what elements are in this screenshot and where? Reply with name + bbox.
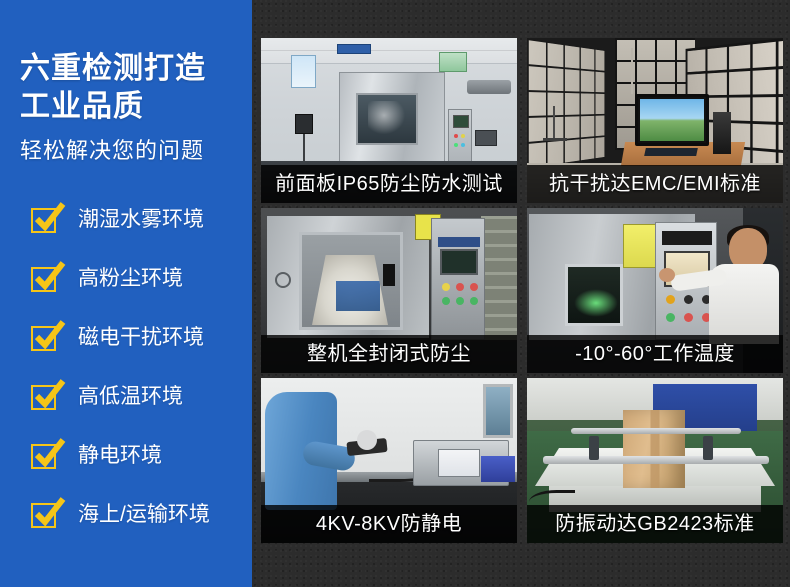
page-title-line-1: 六重检测打造: [20, 50, 206, 88]
photo-tile-ip65: 前面板IP65防尘防水测试: [261, 38, 517, 203]
checkbox-check-icon: [31, 208, 58, 235]
test-photo-grid: 前面板IP65防尘防水测试 抗干扰达EMC/EMI标准: [261, 38, 783, 543]
page-subtitle: 轻松解决您的问题: [20, 133, 204, 165]
photo-caption: 防振动达GB2423标准: [527, 505, 783, 543]
feature-item-5: 海上/运输环境: [0, 501, 252, 560]
checkbox-check-icon: [31, 326, 58, 353]
feature-label: 磁电干扰环境: [78, 324, 204, 351]
feature-item-4: 静电环境: [0, 442, 252, 501]
checkbox-check-icon: [31, 503, 58, 530]
feature-item-2: 磁电干扰环境: [0, 324, 252, 383]
feature-label: 潮湿水雾环境: [78, 206, 204, 233]
feature-item-1: 高粉尘环境: [0, 265, 252, 324]
page-title: 六重检测打造 工业品质: [20, 50, 206, 126]
checkbox-check-icon: [31, 385, 58, 412]
feature-label: 高粉尘环境: [78, 265, 183, 292]
photo-caption: 整机全封闭式防尘: [261, 335, 517, 373]
photo-tile-emc: 抗干扰达EMC/EMI标准: [527, 38, 783, 203]
photo-caption: -10°-60°工作温度: [527, 335, 783, 373]
feature-list: 潮湿水雾环境 高粉尘环境 磁电干扰环境: [0, 206, 252, 560]
checkbox-check-icon: [31, 444, 58, 471]
left-feature-panel: 六重检测打造 工业品质 轻松解决您的问题 潮湿水雾环境 高粉尘环境: [0, 0, 252, 587]
feature-label: 高低温环境: [78, 383, 183, 410]
feature-item-3: 高低温环境: [0, 383, 252, 442]
feature-label: 海上/运输环境: [78, 501, 210, 528]
photo-tile-dust: 整机全封闭式防尘: [261, 208, 517, 373]
photo-tile-temperature: -10°-60°工作温度: [527, 208, 783, 373]
feature-label: 静电环境: [78, 442, 162, 469]
page-title-line-2: 工业品质: [20, 88, 206, 126]
photo-caption: 抗干扰达EMC/EMI标准: [527, 165, 783, 203]
checkbox-check-icon: [31, 267, 58, 294]
photo-tile-esd: 4KV-8KV防静电: [261, 378, 517, 543]
photo-caption: 前面板IP65防尘防水测试: [261, 165, 517, 203]
page-background: 六重检测打造 工业品质 轻松解决您的问题 潮湿水雾环境 高粉尘环境: [0, 0, 790, 587]
photo-caption: 4KV-8KV防静电: [261, 505, 517, 543]
photo-tile-vibration: 防振动达GB2423标准: [527, 378, 783, 543]
feature-item-0: 潮湿水雾环境: [0, 206, 252, 265]
